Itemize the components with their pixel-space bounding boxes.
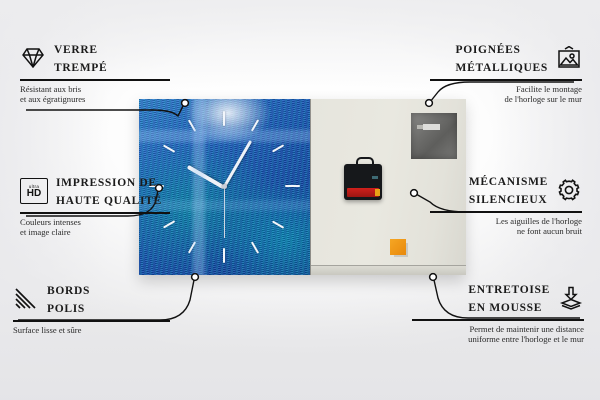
callout-subtitle-line2: uniforme entre l'horloge et le mur bbox=[468, 334, 584, 344]
callout-rule bbox=[430, 211, 582, 213]
callout-polished-edges[interactable]: BORDS POLIS Surface lisse et sûre bbox=[13, 281, 170, 335]
mechanism-hanging-loop bbox=[356, 157, 374, 169]
callout-header: VERRE TREMPÉ bbox=[20, 40, 170, 76]
clock-tick bbox=[223, 111, 225, 126]
callout-title-line1: BORDS bbox=[47, 285, 90, 297]
mechanism-label bbox=[372, 176, 378, 179]
callout-subtitle-line1: Facilite le montage bbox=[516, 84, 582, 94]
foam-spacer bbox=[390, 239, 406, 255]
callout-title: IMPRESSION DE HAUTE QUALITÉ bbox=[56, 173, 162, 209]
clock-tick bbox=[163, 144, 175, 153]
callout-rule bbox=[412, 319, 584, 321]
callout-title-line2: POLIS bbox=[47, 303, 85, 315]
diamond-icon bbox=[20, 46, 46, 70]
diagonal-lines-icon bbox=[13, 287, 39, 311]
callout-header: ENTRETOISE EN MOUSSE bbox=[412, 280, 584, 316]
callout-subtitle-line1: Permet de maintenir une distance bbox=[469, 324, 584, 334]
callout-title: VERRE TREMPÉ bbox=[54, 40, 107, 76]
clock-second-hand bbox=[224, 186, 225, 238]
clock-minute-hand bbox=[223, 140, 253, 188]
callout-header: ultra HD IMPRESSION DE HAUTE QUALITÉ bbox=[20, 173, 170, 209]
callout-subtitle-line2: ne font aucun bruit bbox=[517, 226, 582, 236]
callout-subtitle-line1: Résistant aux bris bbox=[20, 84, 81, 94]
callout-header: BORDS POLIS bbox=[13, 281, 170, 317]
clock-hour-hand bbox=[187, 165, 225, 189]
clock-tick bbox=[188, 241, 197, 253]
callout-header: MÉCANISME SILENCIEUX bbox=[430, 172, 582, 208]
callout-title-line2: HAUTE QUALITÉ bbox=[56, 195, 162, 207]
callout-title: ENTRETOISE EN MOUSSE bbox=[468, 280, 550, 316]
clock-mechanism-box bbox=[344, 164, 382, 200]
callout-subtitle: Facilite le montage de l'horloge sur le … bbox=[430, 84, 582, 105]
callout-title: POIGNÉES MÉTALLIQUES bbox=[456, 40, 548, 76]
callout-title-line1: VERRE bbox=[54, 44, 98, 56]
callout-title-line1: POIGNÉES bbox=[456, 44, 521, 56]
callout-subtitle-line2: et image claire bbox=[20, 227, 71, 237]
callout-subtitle-line1: Surface lisse et sûre bbox=[13, 325, 82, 335]
callout-title-line2: EN MOUSSE bbox=[468, 302, 542, 314]
hanging-picture-icon bbox=[556, 46, 582, 70]
arrow-down-layers-icon bbox=[558, 286, 584, 310]
callout-subtitle: Couleurs intenses et image claire bbox=[20, 217, 170, 238]
callout-subtitle: Surface lisse et sûre bbox=[13, 325, 170, 336]
callout-subtitle-line1: Les aiguilles de l'horloge bbox=[496, 216, 582, 226]
product-image bbox=[139, 99, 465, 275]
callout-title-line1: MÉCANISME bbox=[469, 176, 548, 188]
metal-hanger-plate bbox=[411, 113, 457, 159]
infographic-stage: VERRE TREMPÉ Résistant aux bris et aux é… bbox=[0, 0, 600, 400]
hanger-slot bbox=[423, 124, 440, 130]
callout-silent-mechanism[interactable]: MÉCANISME SILENCIEUX Les aiguilles de l'… bbox=[430, 172, 582, 237]
callout-title-line2: MÉTALLIQUES bbox=[456, 62, 548, 74]
clock-center-pin bbox=[222, 184, 227, 189]
callout-rule bbox=[13, 320, 170, 322]
callout-subtitle: Permet de maintenir une distance uniform… bbox=[412, 324, 584, 345]
clock-tick bbox=[188, 119, 197, 131]
callout-hd-print[interactable]: ultra HD IMPRESSION DE HAUTE QUALITÉ Cou… bbox=[20, 173, 170, 238]
callout-title: MÉCANISME SILENCIEUX bbox=[469, 172, 548, 208]
callout-rule bbox=[20, 212, 170, 214]
clock-tick bbox=[272, 144, 284, 153]
gear-icon bbox=[556, 178, 582, 202]
callout-subtitle-line1: Couleurs intenses bbox=[20, 217, 81, 227]
callout-title-line2: TREMPÉ bbox=[54, 62, 107, 74]
callout-subtitle-line2: de l'horloge sur le mur bbox=[505, 94, 582, 104]
clock-tick bbox=[251, 119, 260, 131]
ultra-hd-badge-icon: ultra HD bbox=[20, 178, 48, 204]
callout-subtitle-line2: et aux égratignures bbox=[20, 94, 85, 104]
callout-title: BORDS POLIS bbox=[47, 281, 90, 317]
callout-foam-spacer[interactable]: ENTRETOISE EN MOUSSE Permet de maintenir… bbox=[412, 280, 584, 345]
callout-header: POIGNÉES MÉTALLIQUES bbox=[430, 40, 582, 76]
callout-rule bbox=[20, 79, 170, 81]
callout-title-line1: ENTRETOISE bbox=[468, 284, 550, 296]
battery bbox=[347, 188, 379, 197]
callout-subtitle: Les aiguilles de l'horloge ne font aucun… bbox=[430, 216, 582, 237]
clock-tick bbox=[251, 241, 260, 253]
callout-rule bbox=[430, 79, 582, 81]
callout-title-line2: SILENCIEUX bbox=[469, 194, 548, 206]
clock-tick bbox=[285, 185, 300, 187]
callout-subtitle: Résistant aux bris et aux égratignures bbox=[20, 84, 170, 105]
clock-tick bbox=[272, 220, 284, 229]
callout-metal-handles[interactable]: POIGNÉES MÉTALLIQUES Facilite le montage… bbox=[430, 40, 582, 105]
clock-tick bbox=[223, 248, 225, 263]
callout-title-line1: IMPRESSION DE bbox=[56, 177, 157, 189]
callout-tempered-glass[interactable]: VERRE TREMPÉ Résistant aux bris et aux é… bbox=[20, 40, 170, 105]
badge-hd-text: HD bbox=[27, 189, 41, 199]
